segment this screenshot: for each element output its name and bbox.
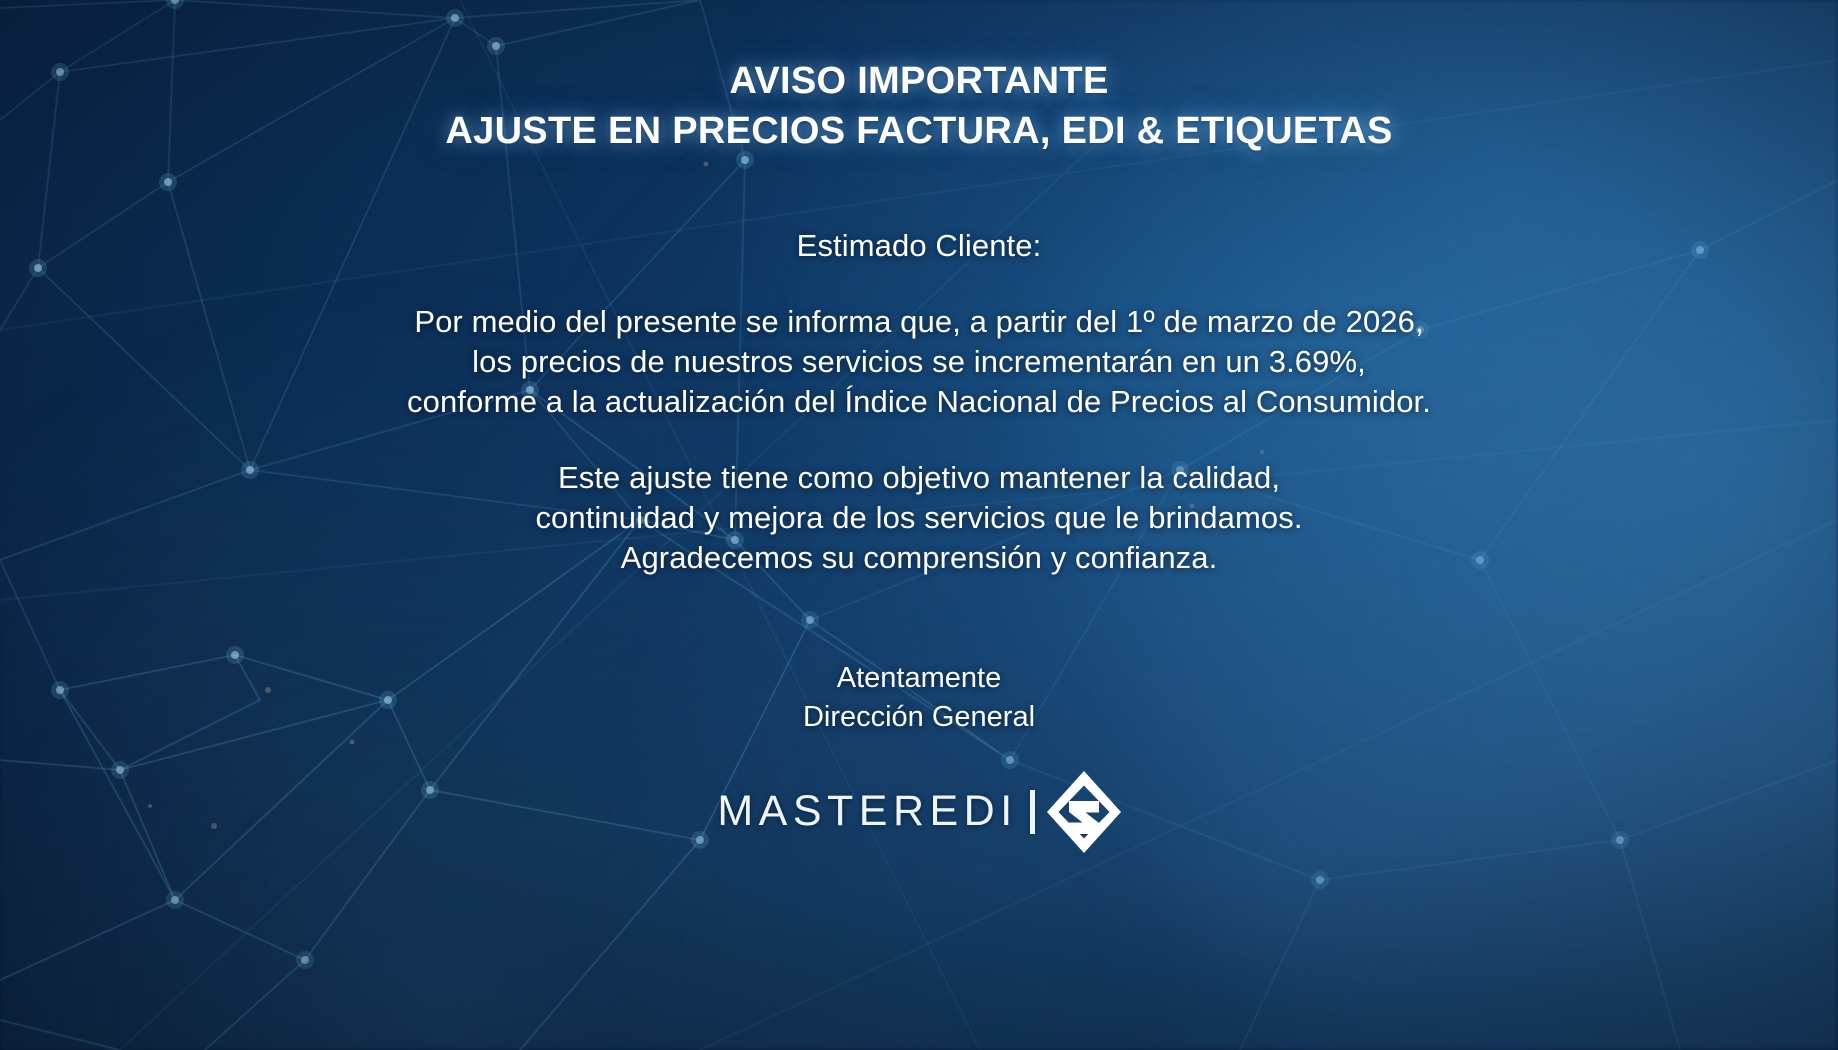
masteredi-diamond-z-icon xyxy=(1047,771,1121,853)
paragraph-price-adjustment: Por medio del presente se informa que, a… xyxy=(407,302,1431,421)
headline-line-1: AVISO IMPORTANTE xyxy=(729,60,1108,102)
paragraph-2-line-1: Este ajuste tiene como objetivo mantener… xyxy=(407,458,1431,498)
notice-body: Estimado Cliente: Por medio del presente… xyxy=(407,226,1431,578)
page-title: AVISO IMPORTANTE AJUSTE EN PRECIOS FACTU… xyxy=(445,56,1392,156)
logo-divider-bar xyxy=(1030,790,1035,834)
closing-signature: Atentamente Dirección General xyxy=(803,659,1035,736)
closing-department: Dirección General xyxy=(803,698,1035,737)
brand-logo: MASTEREDI xyxy=(717,771,1120,853)
paragraph-1-line-3: conforme a la actualización del Índice N… xyxy=(407,382,1431,422)
notice-slide: AVISO IMPORTANTE AJUSTE EN PRECIOS FACTU… xyxy=(0,0,1838,1050)
headline-line-2: AJUSTE EN PRECIOS FACTURA, EDI & ETIQUET… xyxy=(445,106,1392,156)
paragraph-2-line-3: Agradecemos su comprensión y confianza. xyxy=(407,538,1431,578)
closing-salutation: Atentamente xyxy=(803,659,1035,698)
paragraph-service-quality: Este ajuste tiene como objetivo mantener… xyxy=(407,458,1431,577)
brand-wordmark: MASTEREDI xyxy=(717,790,1017,833)
salutation: Estimado Cliente: xyxy=(407,226,1431,266)
notice-content: AVISO IMPORTANTE AJUSTE EN PRECIOS FACTU… xyxy=(0,0,1838,1050)
paragraph-1-line-1: Por medio del presente se informa que, a… xyxy=(407,302,1431,342)
paragraph-2-line-2: continuidad y mejora de los servicios qu… xyxy=(407,498,1431,538)
paragraph-1-line-2: los precios de nuestros servicios se inc… xyxy=(407,342,1431,382)
